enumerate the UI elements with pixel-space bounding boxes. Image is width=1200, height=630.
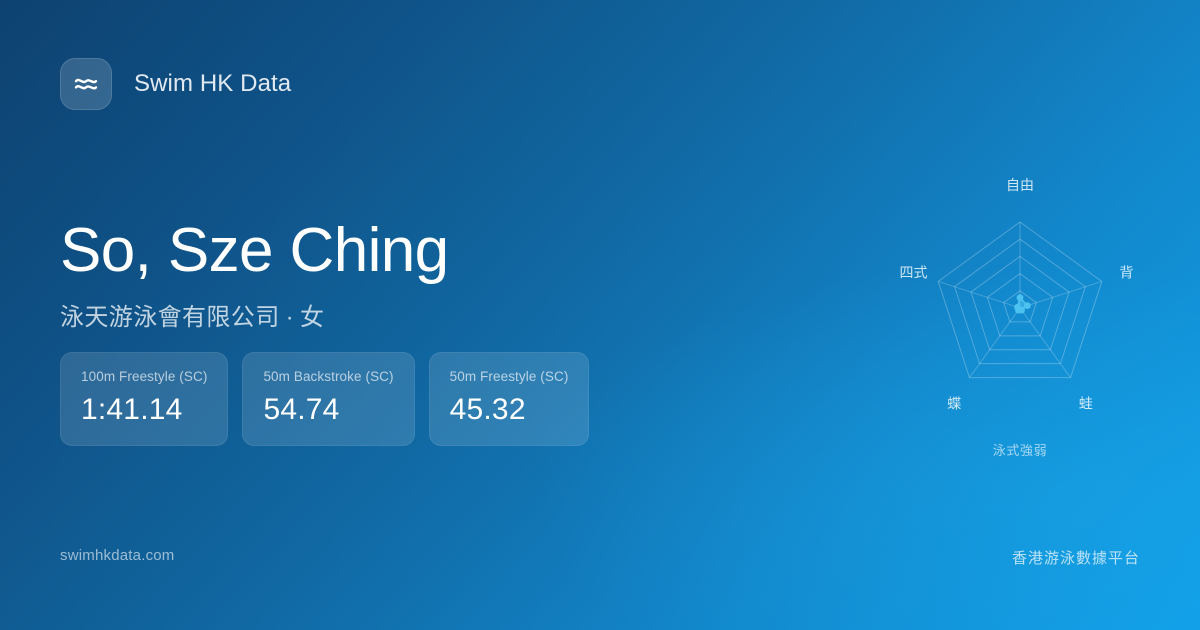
hero: So, Sze Ching 泳天游泳會有限公司·女 [60, 218, 449, 332]
athlete-meta: 泳天游泳會有限公司·女 [60, 297, 449, 332]
stat-card: 50m Backstroke (SC) 54.74 [242, 352, 414, 446]
radar-spoke [1020, 281, 1102, 308]
radar-spoke [938, 281, 1020, 308]
stat-value: 45.32 [450, 393, 569, 427]
radar-axis-label: 自由 [1006, 177, 1034, 193]
radar-point [1024, 302, 1031, 309]
radar-chart: 自由背蛙蝶四式 泳式強弱 [858, 160, 1182, 480]
brand: Swim HK Data [60, 58, 291, 110]
footer-tagline: 香港游泳數據平台 [1012, 547, 1140, 568]
radar-spoke [969, 308, 1020, 378]
meta-separator: · [280, 304, 300, 331]
gender-label: 女 [300, 304, 324, 331]
radar-axis-labels: 自由背蛙蝶四式 [900, 177, 1134, 412]
stat-value: 1:41.14 [81, 393, 207, 427]
radar-caption: 泳式強弱 [858, 440, 1182, 459]
radar-point [1017, 294, 1024, 301]
brand-name: Swim HK Data [134, 70, 291, 98]
radar-spoke [1020, 308, 1071, 378]
wave-icon [60, 58, 112, 110]
radar-axis-label: 蝶 [947, 396, 961, 412]
stat-value: 54.74 [263, 393, 393, 427]
og-card: Swim HK Data So, Sze Ching 泳天游泳會有限公司·女 1… [0, 0, 1200, 630]
radar-axis-label: 背 [1120, 264, 1134, 280]
radar-axis-label: 四式 [900, 264, 928, 280]
stat-label: 50m Freestyle (SC) [450, 369, 569, 384]
club-name: 泳天游泳會有限公司 [60, 304, 280, 331]
footer-site-url: swimhkdata.com [60, 547, 175, 564]
radar-point [1014, 304, 1021, 311]
radar-axis-label: 蛙 [1079, 396, 1093, 412]
stat-card: 50m Freestyle (SC) 45.32 [429, 352, 590, 446]
page-title: So, Sze Ching [60, 218, 449, 285]
stat-label: 50m Backstroke (SC) [263, 369, 393, 384]
stat-label: 100m Freestyle (SC) [81, 369, 207, 384]
stat-card: 100m Freestyle (SC) 1:41.14 [60, 352, 228, 446]
stat-card-list: 100m Freestyle (SC) 1:41.14 50m Backstro… [60, 352, 589, 446]
